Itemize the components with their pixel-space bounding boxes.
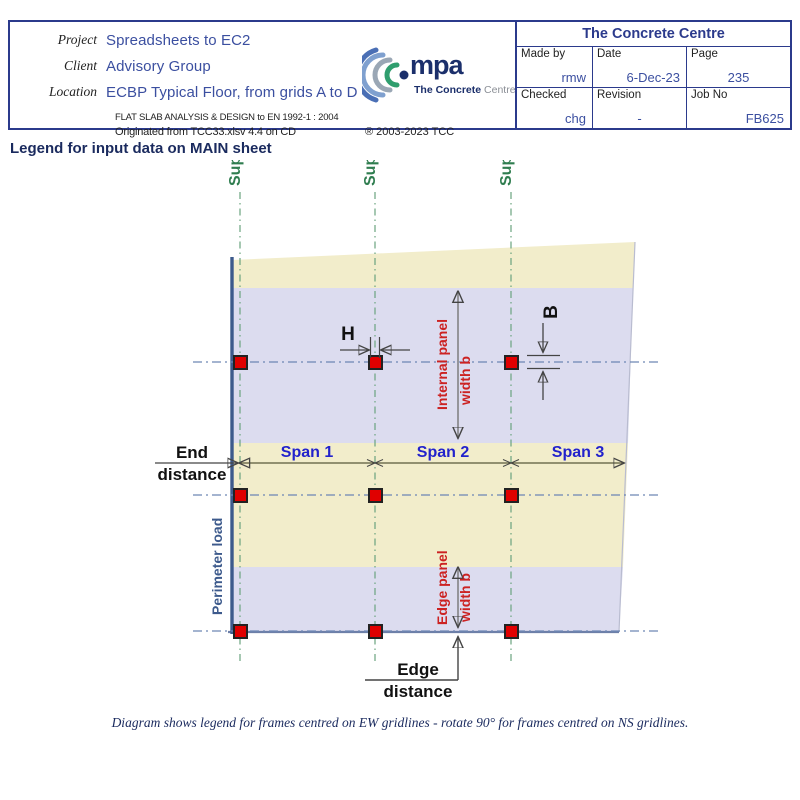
cell-revision-label: Revision [597,89,682,101]
title-block-row-2: Checked chg Revision - Job No FB625 [517,88,790,128]
cell-revision: Revision - [593,88,687,128]
internal-panel-label-line1: Internal panel [434,319,450,410]
cell-page-label: Page [691,48,786,60]
title-block: Project Spreadsheets to EC2 Client Advis… [8,20,792,130]
mpa-logo: mpa The Concrete Centre [362,44,512,106]
cell-checked-label: Checked [521,89,588,101]
edge-panel-label-line1: Edge panel [434,550,450,625]
logo-tagline-bold: The Concrete [414,84,481,96]
internal-panel-label-line2: width b [457,356,473,406]
copyright-text: ® 2003-2023 TCC [365,126,454,138]
end-distance-label-line1: End [176,443,208,462]
field-client-value: Advisory Group [106,58,211,75]
legend-diagram: Supt 1 Supt 2 Supt 3 H B Internal panel … [0,160,800,705]
support-label-2: Supt 2 [362,160,379,186]
caption-line-1: Diagram shows legend for frames centred … [112,715,598,730]
cell-job-no: Job No FB625 [687,88,790,128]
standard-reference: FLAT SLAB ANALYSIS & DESIGN to EN 1992-1… [115,112,338,123]
field-client-label: Client [10,58,106,74]
cell-job-no-label: Job No [691,89,786,101]
cell-job-no-value: FB625 [746,111,784,126]
support-label-3: Supt 3 [498,160,515,186]
cell-page-value: 235 [687,70,790,85]
title-block-left: Project Spreadsheets to EC2 Client Advis… [10,22,515,128]
cell-checked: Checked chg [517,88,593,128]
cell-revision-value: - [593,111,686,126]
field-project-label: Project [10,32,106,48]
cell-checked-value: chg [565,111,586,126]
title-block-right: The Concrete Centre Made by rmw Date 6-D… [515,22,790,128]
field-location-label: Location [10,84,106,100]
edge-distance-label-line1: Edge [397,660,439,679]
origin-reference: Originated from TCC33.xlsv 4.4 on CD [115,126,296,138]
edge-panel-label-line2: width b [457,573,473,623]
logo-wordmark: mpa [410,50,463,81]
cell-made-by: Made by rmw [517,47,593,87]
field-location-value: ECBP Typical Floor, from grids A to D [106,84,358,101]
span-label-1: Span 1 [281,444,334,461]
cell-page: Page 235 [687,47,790,87]
cell-made-by-label: Made by [521,48,588,60]
field-project-value: Spreadsheets to EC2 [106,32,251,49]
page-title: Legend for input data on MAIN sheet [10,140,272,157]
company-name: The Concrete Centre [517,22,790,47]
cell-made-by-value: rmw [561,70,586,85]
cell-date-value: 6-Dec-23 [627,70,680,85]
support-label-1: Supt 1 [227,160,244,186]
perimeter-load-label: Perimeter load [209,518,225,615]
logo-tagline: The Concrete Centre [414,84,516,96]
dimension-h-label: H [341,324,355,345]
band-edge-lavender [232,567,623,632]
diagram-caption: Diagram shows legend for frames centred … [60,712,740,733]
edge-distance-label-line2: distance [384,682,453,701]
logo-tagline-rest: Centre [481,84,515,96]
band-internal-lavender [232,288,633,443]
cell-date: Date 6-Dec-23 [593,47,687,87]
span-label-3: Span 3 [552,444,605,461]
band-top-yellow [232,242,635,288]
span-label-2: Span 2 [417,444,470,461]
dimension-b-label: B [541,305,562,319]
caption-line-2: on NS gridlines. [601,715,688,730]
cell-date-label: Date [597,48,682,60]
logo-dot [400,71,409,80]
band-middle-yellow [232,443,628,567]
title-block-row-1: Made by rmw Date 6-Dec-23 Page 235 [517,47,790,88]
end-distance-label-line2: distance [158,465,227,484]
